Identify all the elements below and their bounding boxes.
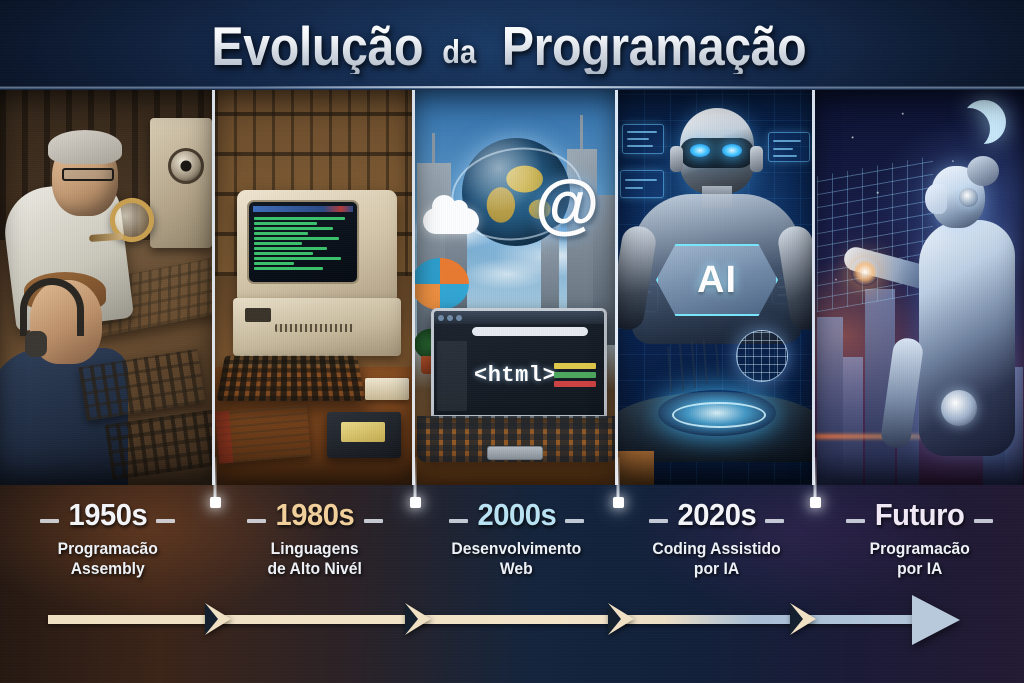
era-dash-right [565, 519, 584, 523]
milestone-1950s[interactable]: 1950s Programacão Assembly [0, 485, 215, 607]
era-dash-left [846, 519, 865, 523]
hud-chart-icon [620, 170, 664, 198]
era-label: 1980s [276, 499, 355, 530]
milestone-labels: 1950s Programacão Assembly 1980s Linguag… [0, 485, 1024, 607]
computer-case [233, 298, 401, 356]
light-spark-icon [851, 258, 879, 286]
arrow-chevron-1 [205, 603, 231, 635]
ai-hexagon-badge: AI [656, 244, 778, 316]
headset-icon [20, 278, 84, 336]
eyeglasses-icon [62, 168, 114, 181]
era-description: Desenvolvimento Web [452, 539, 582, 579]
era-dash-right [156, 519, 175, 523]
era-dash-left [40, 519, 59, 523]
era-description: Programacão Assembly [57, 539, 157, 579]
analog-dial-icon [168, 148, 204, 184]
hud-panel-icon [622, 124, 664, 154]
panel-2000s-web-development: @ <html> [415, 90, 618, 485]
milestone-2020s[interactable]: 2020s Coding Assistido por IA [618, 485, 815, 607]
holographic-ring [658, 390, 776, 436]
milestone-1980s[interactable]: 1980s Linguagens de Alto Nivél [215, 485, 415, 607]
green-code-lines [254, 217, 353, 270]
timeline-band: 1950s Programacão Assembly 1980s Linguag… [0, 485, 1024, 683]
era-dash-right [974, 519, 993, 523]
disk-stack [365, 378, 409, 400]
browser-urlbar [472, 327, 588, 336]
cloud-icon [423, 208, 479, 234]
milestone-futuro[interactable]: Futuro Programacão por IA [815, 485, 1024, 607]
era-dash-right [364, 519, 383, 523]
floppy-drive-slot [275, 324, 355, 332]
era-label: 1950s [68, 499, 147, 530]
era-label: 2000s [477, 499, 556, 530]
title-word-programacao: Programação [501, 19, 806, 74]
android-hip-joint [941, 390, 977, 426]
title-word-evolucao: Evolução [212, 19, 424, 74]
building-spire [580, 115, 583, 149]
terminal-titlebar [253, 206, 353, 212]
era-dash-left [449, 519, 468, 523]
panel-2020s-ai-assisted-coding: AI [618, 90, 815, 485]
era-description: Linguagens de Alto Nivél [268, 539, 362, 579]
laptop-screen: <html> [431, 308, 607, 418]
arrow-chevron-2 [405, 603, 431, 635]
crescent-moon-icon [962, 100, 1006, 144]
manuals [215, 404, 311, 464]
at-symbol-icon: @ [535, 170, 599, 236]
arrow-chevron-4 [790, 603, 816, 635]
header-banner: Evolução da Programação [0, 0, 1024, 90]
page-title: Evolução da Programação [0, 0, 1024, 88]
robot-eye-left-icon [690, 144, 710, 157]
era-dash-left [247, 519, 266, 523]
panel-1980s-high-level-languages [215, 90, 415, 485]
ai-badge-label: AI [697, 259, 737, 302]
panel-strip: @ <html> [0, 90, 1024, 485]
arrow-chevron-3 [608, 603, 634, 635]
editor-sidebar [437, 341, 467, 411]
milestone-2000s[interactable]: 2000s Desenvolvimento Web [415, 485, 618, 607]
floppy-disk [327, 412, 401, 458]
era-label: Futuro [875, 499, 964, 530]
robot-eye-right-icon [722, 144, 742, 157]
building-spire [432, 133, 435, 163]
era-label: 2020s [677, 499, 756, 530]
era-row: Futuro [846, 499, 993, 530]
infographic-root: Evolução da Programação [0, 0, 1024, 683]
hud-panel-icon [768, 132, 810, 162]
era-row: 2020s [649, 499, 785, 530]
robot-ear-left [670, 146, 683, 172]
era-row: 1980s [247, 499, 383, 530]
browser-toolbar [434, 311, 604, 324]
robot-ear-right [750, 146, 763, 172]
era-description: Programacão por IA [869, 539, 969, 579]
android-hair-bun [967, 156, 999, 186]
html-tag-text: <html> [474, 363, 556, 388]
color-swatches [554, 363, 596, 387]
crt-screen [247, 200, 359, 284]
holographic-grid [817, 156, 933, 312]
android-earpiece-icon [959, 188, 978, 207]
title-word-da: da [441, 35, 478, 68]
engineer-senior-hair [48, 130, 122, 164]
era-row: 1950s [40, 499, 176, 530]
era-row: 2000s [449, 499, 585, 530]
era-description: Coding Assistido por IA [652, 539, 780, 579]
panel-futuro-ai-programming [815, 90, 1024, 485]
panel-1950s-assembly [0, 90, 215, 485]
mechanical-keyboard [216, 356, 365, 401]
case-display-panel [245, 308, 271, 322]
era-dash-left [649, 519, 668, 523]
progression-arrow [0, 597, 1024, 643]
arrow-head [912, 595, 960, 645]
era-dash-right [765, 519, 784, 523]
android-face-profile [925, 184, 947, 214]
wireframe-globe-icon [736, 330, 788, 382]
